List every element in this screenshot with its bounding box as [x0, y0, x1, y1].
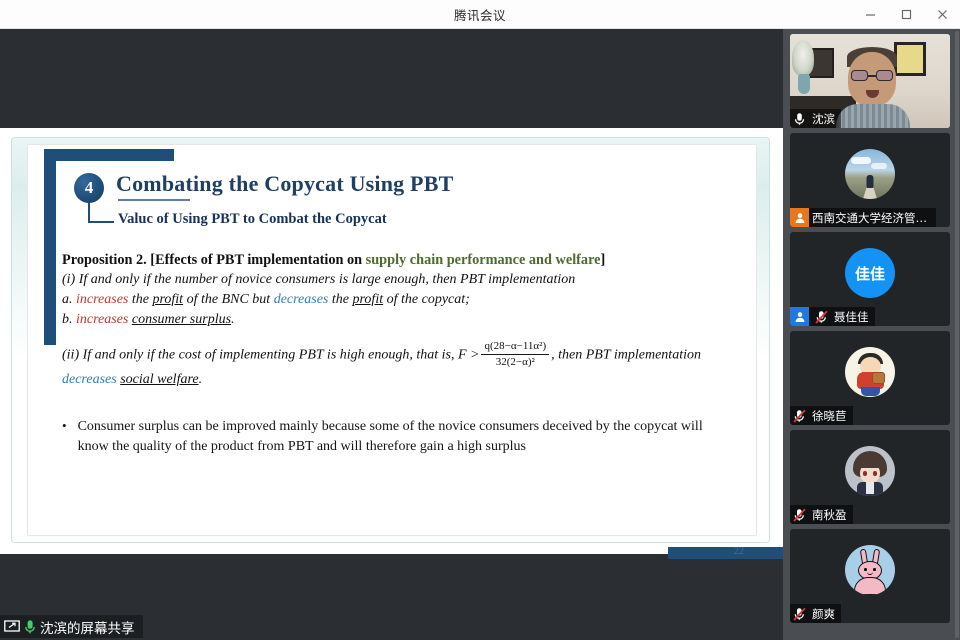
participant-name-5: 颜爽: [812, 606, 835, 622]
slide-elbow-horizontal: [88, 221, 114, 223]
part-ii-decreases: decreases: [62, 372, 117, 387]
slide-section-badge: 4: [74, 173, 104, 203]
screen-share-icon: [4, 620, 20, 634]
screen-share-banner: 沈滨的屏幕共享: [0, 615, 143, 638]
formula-numerator: q(28−α−11α²): [481, 340, 549, 355]
window-titlebar: 腾讯会议: [0, 0, 960, 29]
mic-muted-icon: [790, 604, 809, 623]
participant-tile-4[interactable]: 南秋盈: [790, 430, 950, 524]
window-controls: [852, 0, 960, 29]
mic-on-icon: [790, 109, 809, 128]
participant-tile-3[interactable]: 徐晓苣: [790, 331, 950, 425]
slide-subtitle: Valuc of Using PBT to Combat the Copycat: [118, 211, 387, 228]
participant-tile-5[interactable]: 颜爽: [790, 529, 950, 623]
participant-name-1: 西南交通大学经济管理...: [812, 210, 930, 226]
screen-share-label: 沈滨的屏幕共享: [40, 617, 135, 637]
item-a-mid3: the: [328, 292, 352, 307]
participant-avatar-2: 佳佳: [845, 248, 895, 298]
participant-avatar-3: [845, 347, 895, 397]
shared-slide-area: 22 4 Combating the Copycat Using PBT Val…: [0, 128, 783, 554]
slide-bullet: • Consumer surplus can be improved mainl…: [62, 417, 730, 457]
slide-body: Proposition 2. [Effects of PBT implement…: [62, 251, 722, 391]
item-a-mid2: of the BNC but: [183, 292, 274, 307]
mic-on-icon: [24, 619, 36, 635]
slide-corner-left: [44, 149, 56, 345]
participant-tile-2[interactable]: 佳佳: [790, 232, 950, 326]
meeting-window: 腾讯会议 22 4 Combating the Copyc: [0, 0, 960, 640]
proposition-highlight: supply chain performance and welfare: [366, 252, 601, 268]
proposition-part-i-lead: (i) If and only if the number of novice …: [62, 270, 722, 290]
participant-nameplate-0: 沈滨: [790, 109, 841, 128]
participant-name-3: 徐晓苣: [812, 408, 847, 424]
proposition-label-tail: ]: [601, 252, 606, 268]
part-ii-mid: , then PBT implementation: [551, 347, 701, 362]
minimize-button[interactable]: [852, 0, 888, 29]
item-b-consumer-surplus: consumer surplus: [132, 312, 231, 327]
participant-tile-0[interactable]: 沈滨: [790, 34, 950, 128]
window-title: 腾讯会议: [454, 5, 506, 24]
bullet-text: Consumer surplus can be improved mainly …: [78, 417, 730, 457]
participant-tile-1[interactable]: 西南交通大学经济管理...: [790, 133, 950, 227]
slide-elbow-vertical: [88, 203, 90, 223]
participant-list: 沈滨 西南交通大学经济管理...: [783, 29, 955, 640]
participant-name-2: 聂佳佳: [834, 309, 869, 325]
proposition-part-i-a: a. increases the profit of the BNC but d…: [62, 290, 722, 310]
participant-avatar-4: [845, 446, 895, 496]
participant-name-0: 沈滨: [812, 111, 835, 127]
participant-name-4: 南秋盈: [812, 507, 847, 523]
threshold-formula: q(28−α−11α²)32(2−α)²: [481, 340, 549, 368]
proposition-part-ii: (ii) If and only if the cost of implemen…: [62, 341, 722, 391]
proposition-heading: Proposition 2. [Effects of PBT implement…: [62, 251, 722, 270]
item-a-tail: of the copycat;: [383, 292, 470, 307]
part-ii-tail: .: [199, 372, 203, 387]
close-button[interactable]: [924, 0, 960, 29]
part-ii-lead: (ii) If and only if the cost of implemen…: [62, 347, 479, 362]
participant-avatar-5: [845, 545, 895, 595]
shared-screen-stage[interactable]: 22 4 Combating the Copycat Using PBT Val…: [0, 29, 783, 640]
cohost-person-icon: [790, 307, 809, 326]
participant-nameplate-4: 南秋盈: [790, 505, 853, 524]
proposition-part-i-b: b. increases consumer surplus.: [62, 310, 722, 330]
mic-muted-icon: [790, 505, 809, 524]
slide-title: Combating the Copycat Using PBT: [116, 171, 453, 197]
part-ii-social-welfare: social welfare: [120, 372, 198, 387]
slide-page-number: 22: [734, 546, 774, 557]
item-a-decreases: decreases: [274, 292, 329, 307]
proposition-label: Proposition 2. [Effects of PBT implement…: [62, 252, 366, 268]
item-a-increases: increases: [76, 292, 128, 307]
participant-scrollbar[interactable]: [955, 31, 959, 638]
presentation-slide: 22 4 Combating the Copycat Using PBT Val…: [27, 144, 757, 536]
maximize-button[interactable]: [888, 0, 924, 29]
item-a-prefix: a.: [62, 292, 76, 307]
slide-corner-bottom: [668, 547, 797, 559]
participant-avatar-1: [845, 149, 895, 199]
participant-nameplate-1: 西南交通大学经济管理...: [790, 208, 936, 227]
item-b-prefix: b.: [62, 312, 76, 327]
item-a-profit-2: profit: [353, 292, 384, 307]
host-person-icon: [790, 208, 809, 227]
participant-nameplate-5: 颜爽: [790, 604, 841, 623]
participant-rail: 沈滨 西南交通大学经济管理...: [783, 29, 960, 640]
item-b-tail: .: [231, 312, 235, 327]
participant-nameplate-2: 聂佳佳: [790, 307, 875, 326]
mic-muted-icon: [812, 307, 831, 326]
mic-muted-icon: [790, 406, 809, 425]
item-a-profit-1: profit: [152, 292, 183, 307]
item-b-increases: increases: [76, 312, 128, 327]
bullet-dot-icon: •: [62, 417, 67, 457]
item-a-mid1: the: [128, 292, 152, 307]
slide-corner-top: [44, 149, 174, 161]
participant-nameplate-3: 徐晓苣: [790, 406, 853, 425]
formula-denominator: 32(2−α)²: [481, 355, 549, 369]
slide-title-underline: [118, 199, 190, 201]
